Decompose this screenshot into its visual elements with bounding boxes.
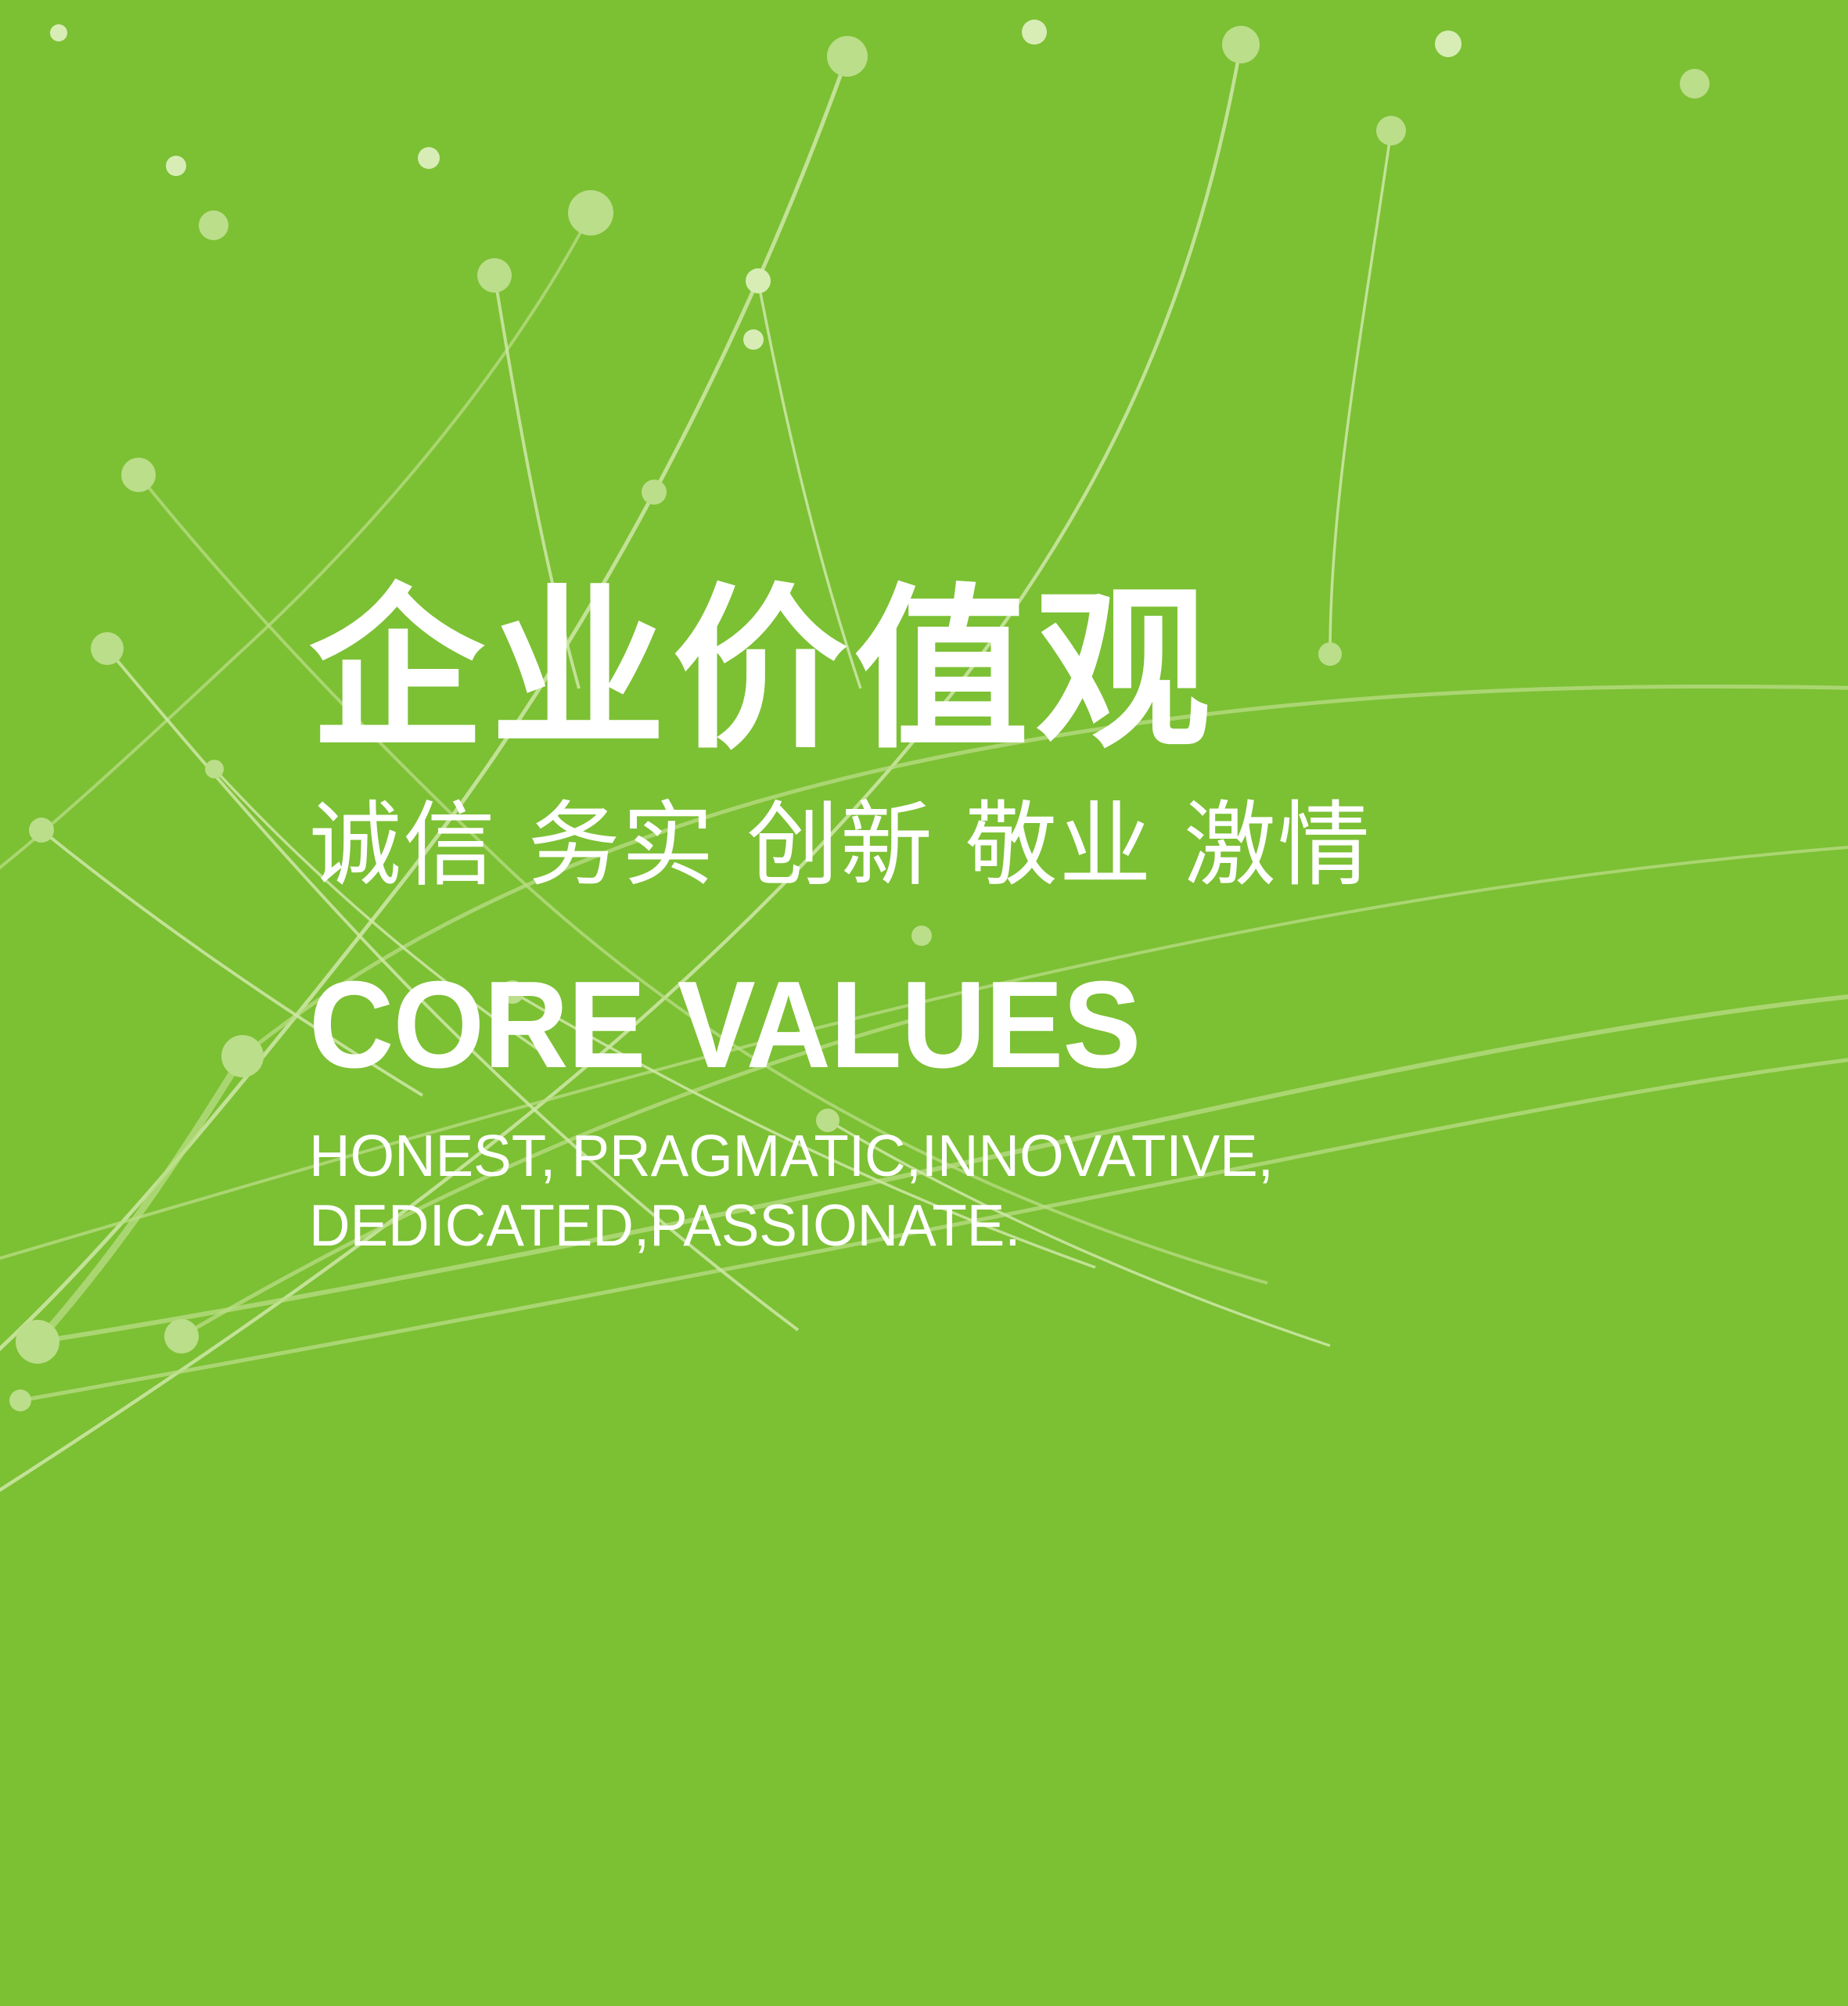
page-title-chinese: 企业价值观 [309, 583, 1717, 758]
page-title-english: CORE VALUES [309, 891, 1647, 1087]
poster-root: .ln { fill:none; stroke:#CFE8A8; stroke-… [0, 0, 1848, 2006]
headline-block: 企业价值观 诚信 务实 创新 敬业 激情 CORE VALUES HONEST,… [309, 583, 1717, 1260]
body-text-english: HONEST, PRAGMATIC,INNOVATIVE, DEDICATED,… [309, 1087, 1675, 1260]
body-line-1: HONEST, PRAGMATIC,INNOVATIVE, [309, 1121, 1675, 1191]
body-line-2: DEDICATED,PASSIONATE. [309, 1191, 1675, 1260]
subtitle-chinese: 诚信 务实 创新 敬业 激情 [309, 758, 1717, 891]
